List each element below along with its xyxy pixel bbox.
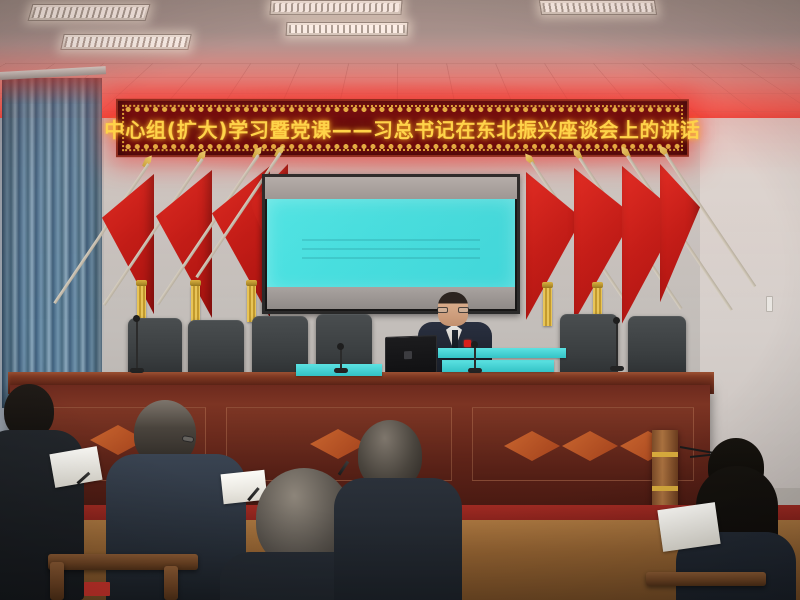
led-banner-text: 中心组(扩大)学习暨党课——习总书记在东北振兴座谈会上的讲话 bbox=[118, 101, 687, 155]
conference-room-photo: 中心组(扩大)学习暨党课——习总书记在东北振兴座谈会上的讲话 bbox=[0, 0, 800, 600]
speaker-tie bbox=[452, 330, 458, 348]
tablecloth-far bbox=[438, 348, 566, 358]
attendee-paper bbox=[657, 502, 720, 552]
led-banner: 中心组(扩大)学习暨党课——习总书记在东北振兴座谈会上的讲话 bbox=[116, 99, 689, 157]
audience-chair-1-tag bbox=[84, 582, 110, 596]
podium-band-1 bbox=[652, 452, 678, 457]
ceiling-light-panel-1 bbox=[28, 4, 151, 21]
screen-faint-text bbox=[302, 239, 481, 263]
laptop[interactable] bbox=[385, 335, 437, 375]
window-curtain-left bbox=[2, 78, 102, 408]
audience-chair-3[interactable] bbox=[646, 572, 766, 586]
laptop-logo-icon bbox=[404, 351, 412, 359]
stage-chair-5[interactable] bbox=[560, 314, 618, 380]
screen-top-bar bbox=[265, 177, 517, 199]
speaker-party-badge bbox=[464, 340, 471, 347]
screen-surface bbox=[267, 199, 515, 291]
stage-chair-6[interactable] bbox=[628, 316, 686, 380]
ceiling-light-panel-5 bbox=[539, 0, 657, 15]
speaker-glasses-icon bbox=[437, 307, 469, 313]
attendee-body bbox=[334, 478, 462, 600]
light-switch[interactable] bbox=[766, 296, 773, 312]
audience-chair-2[interactable] bbox=[164, 566, 178, 600]
ceiling-light-panel-3 bbox=[269, 0, 402, 15]
podium-band-2 bbox=[652, 486, 678, 491]
tablecloth-right bbox=[442, 360, 554, 372]
audience-chair-1-post[interactable] bbox=[50, 562, 64, 600]
